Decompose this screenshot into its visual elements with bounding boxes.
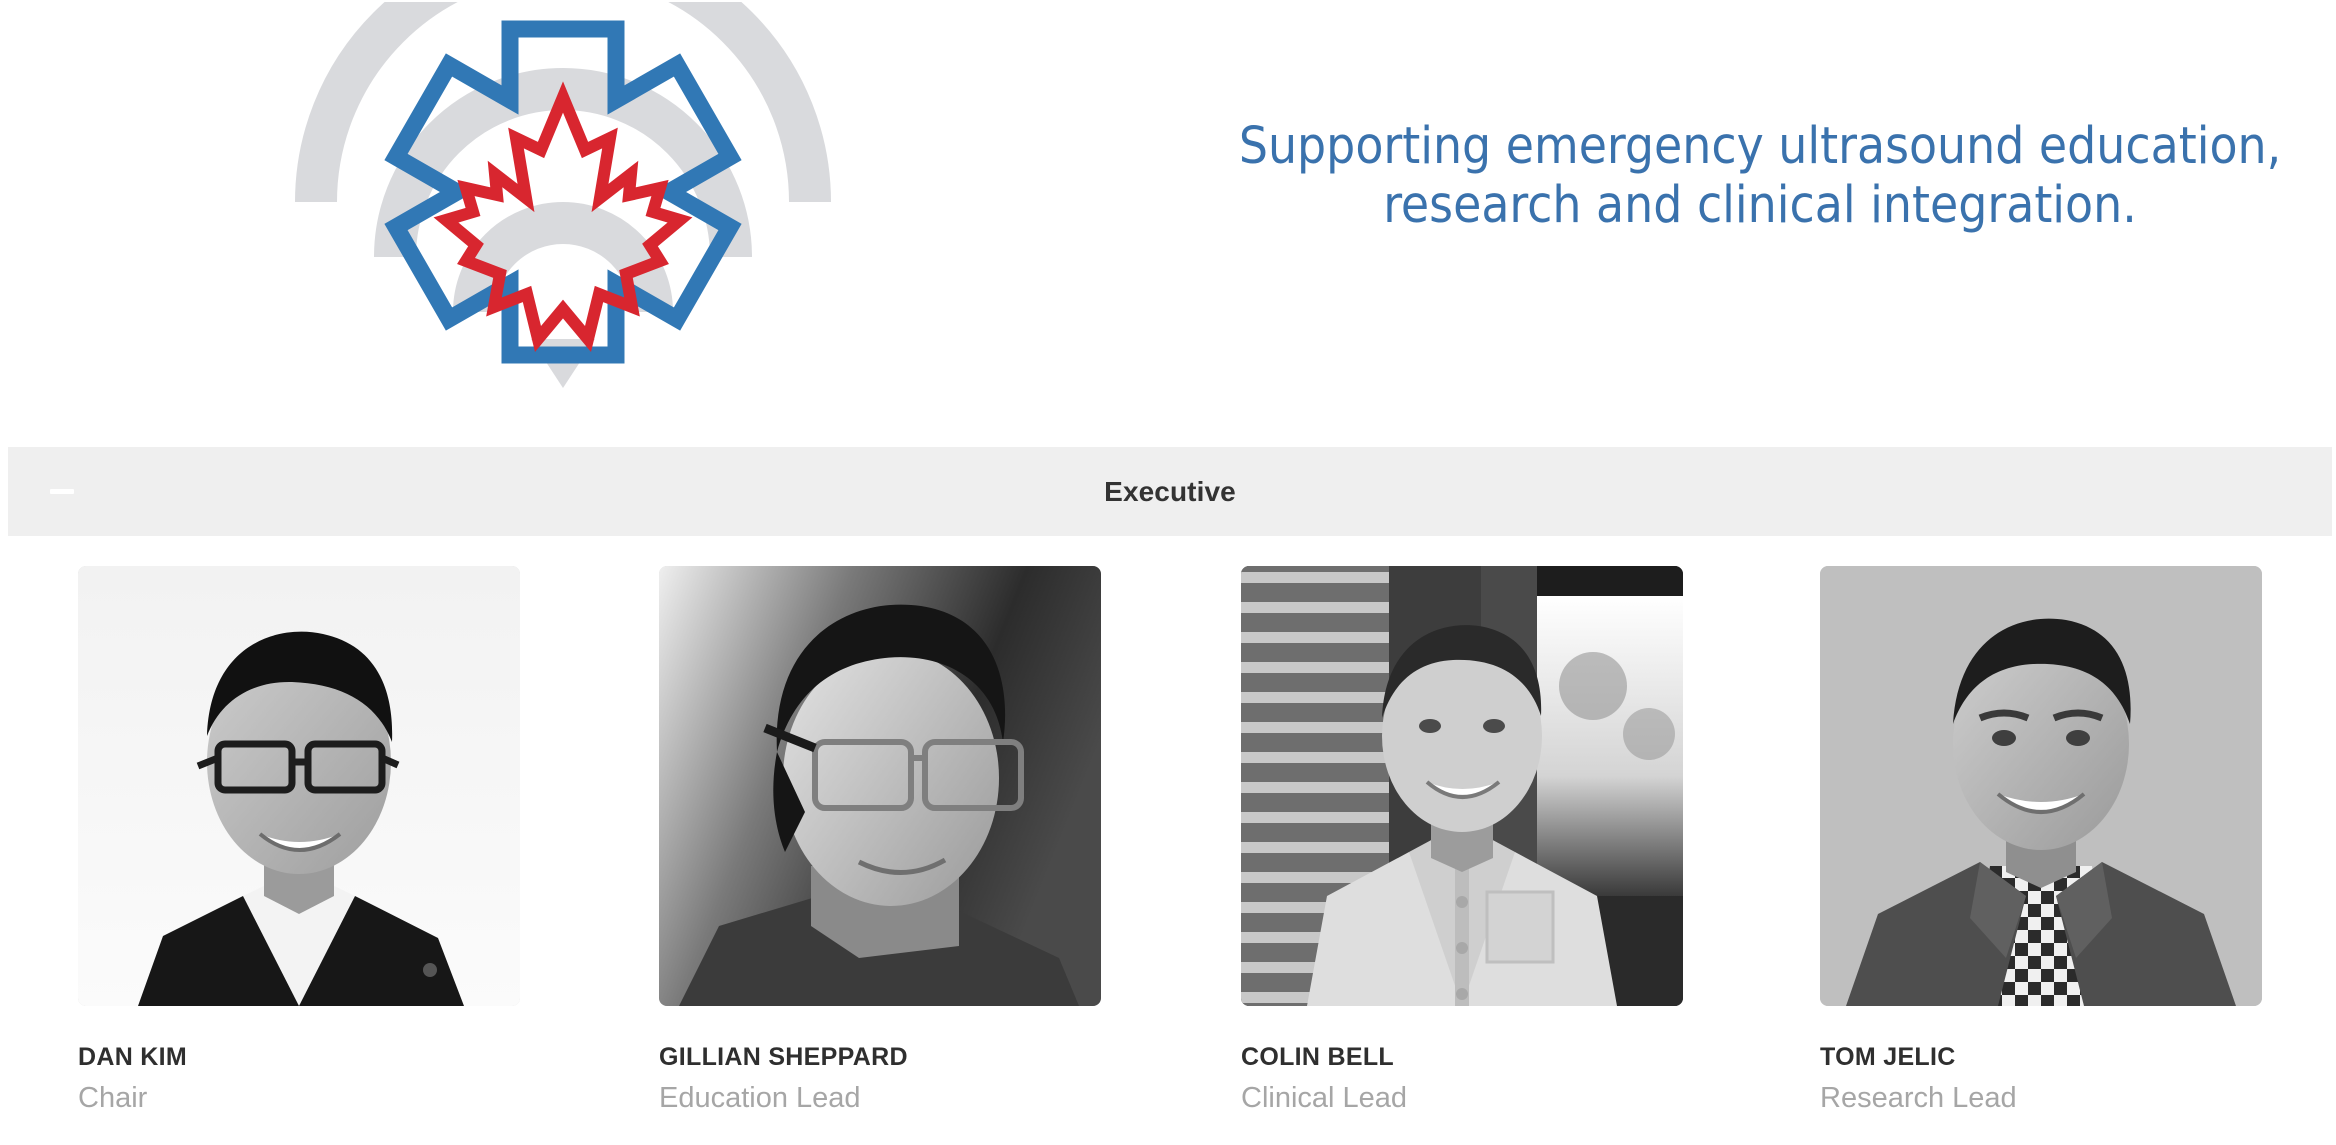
tagline-line-2: research and clinical integration. xyxy=(1180,177,2336,236)
member-role: Chair xyxy=(78,1083,520,1115)
member-name: DAN KIM xyxy=(78,1044,520,1072)
member-card[interactable]: COLIN BELL Clinical Lead xyxy=(1241,566,1683,1114)
member-role: Research Lead xyxy=(1820,1083,2262,1115)
page-root: Supporting emergency ultrasound educatio… xyxy=(0,0,2336,1145)
site-tagline: Supporting emergency ultrasound educatio… xyxy=(1180,118,2336,235)
photo-tom-jelic xyxy=(1820,566,2262,1006)
member-card[interactable]: DAN KIM Chair xyxy=(78,566,520,1114)
member-card[interactable]: TOM JELIC Research Lead xyxy=(1820,566,2262,1114)
tagline-line-1: Supporting emergency ultrasound educatio… xyxy=(1239,117,2281,176)
photo-gillian-sheppard xyxy=(659,566,1101,1006)
photo-colin-bell xyxy=(1241,566,1683,1006)
section-header-executive[interactable]: Executive xyxy=(8,447,2332,536)
member-role: Clinical Lead xyxy=(1241,1083,1683,1115)
member-card[interactable]: GILLIAN SHEPPARD Education Lead xyxy=(659,566,1101,1114)
member-role: Education Lead xyxy=(659,1083,1101,1115)
collapse-minus-icon[interactable] xyxy=(50,489,74,494)
site-logo[interactable] xyxy=(288,2,838,402)
member-name: GILLIAN SHEPPARD xyxy=(659,1044,1101,1072)
photo-dan-kim xyxy=(78,566,520,1006)
member-name: COLIN BELL xyxy=(1241,1044,1683,1072)
member-name: TOM JELIC xyxy=(1820,1044,2262,1072)
executive-members-grid: DAN KIM Chair xyxy=(0,566,2336,1145)
site-header-banner: Supporting emergency ultrasound educatio… xyxy=(0,0,2336,440)
section-title: Executive xyxy=(1104,476,1236,508)
